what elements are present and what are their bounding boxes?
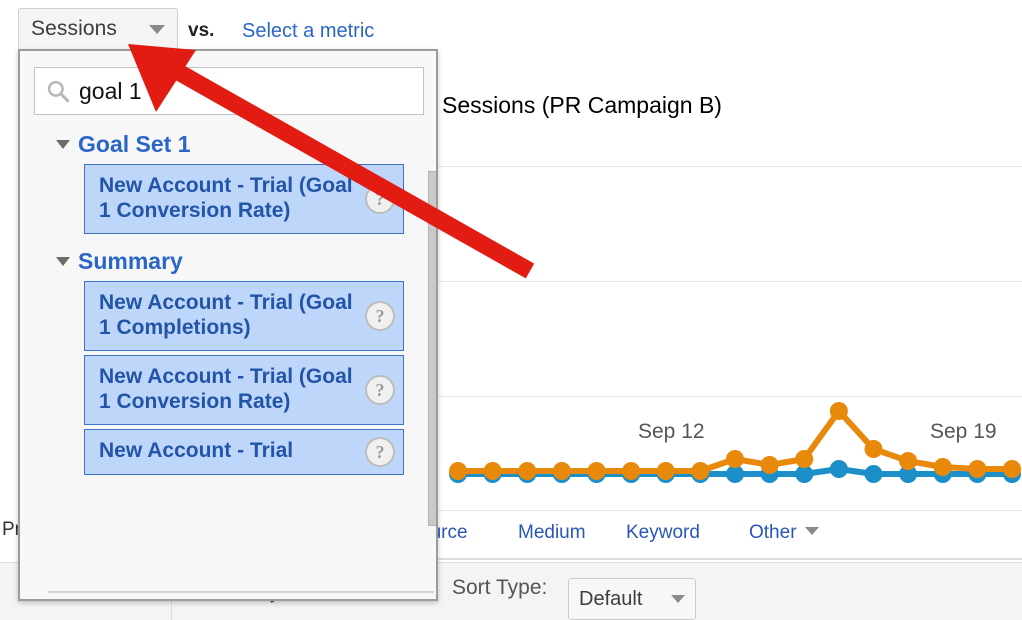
help-circle-icon[interactable]: ? — [365, 437, 395, 467]
dimension-link-keyword[interactable]: Keyword — [626, 522, 700, 544]
triangle-down-icon — [56, 257, 70, 266]
metric-list[interactable]: Goal Set 1 New Account - Trial (Goal 1 C… — [34, 125, 426, 569]
chart-panel: Sessions (PR Campaign B) Sep 12 Sep 19 — [430, 58, 1022, 510]
chart-series-svg — [430, 166, 1022, 510]
dimension-row-underline — [430, 558, 1022, 560]
metric-list-item[interactable]: New Account - Trial (Goal 1 Completions)… — [84, 281, 404, 351]
chart-point — [553, 462, 571, 480]
search-icon — [45, 78, 71, 104]
metric-list-item[interactable]: New Account - Trial (Goal 1 Conversion R… — [84, 164, 404, 234]
chart-point — [588, 462, 606, 480]
sort-type-label: Sort Type: — [452, 576, 547, 600]
sort-type-select[interactable]: Default — [568, 578, 696, 620]
chart-plot-area — [430, 166, 1022, 510]
metric-item-label: New Account - Trial (Goal 1 Conversion R… — [99, 174, 353, 222]
x-tick-label: Sep 19 — [930, 420, 997, 444]
help-circle-icon[interactable]: ? — [365, 301, 395, 331]
chevron-down-icon — [149, 25, 165, 34]
gridline — [430, 396, 1022, 397]
sort-type-value: Default — [579, 588, 665, 611]
metric-item-label: New Account - Trial (Goal 1 Conversion R… — [99, 365, 353, 413]
popup-divider — [48, 591, 434, 593]
dimension-link-other[interactable]: Other — [749, 522, 819, 544]
chart-point — [865, 440, 883, 458]
chart-point — [484, 462, 502, 480]
metric-item-label: New Account - Trial — [99, 439, 293, 462]
metric-search-value: goal 1 — [79, 78, 142, 105]
chart-point — [795, 450, 813, 468]
chart-point — [622, 462, 640, 480]
metric-picker-popup: goal 1 Goal Set 1 New Account - Trial (G… — [18, 49, 438, 601]
chart-point — [830, 402, 848, 420]
metric-list-scrollbar[interactable] — [428, 171, 438, 526]
help-circle-icon[interactable]: ? — [365, 375, 395, 405]
screen-root: Sessions (PR Campaign B) Sep 12 Sep 19 o… — [0, 0, 1022, 620]
triangle-down-icon — [56, 140, 70, 149]
metric-group-label: Summary — [78, 248, 183, 275]
primary-metric-label: Sessions — [31, 17, 143, 41]
chart-point — [899, 452, 917, 470]
chevron-down-icon — [805, 527, 819, 535]
metric-item-label: New Account - Trial (Goal 1 Completions) — [99, 291, 353, 339]
vs-label: vs. — [188, 20, 214, 42]
dimension-link-medium[interactable]: Medium — [518, 522, 586, 544]
chart-title: Sessions (PR Campaign B) — [442, 92, 722, 119]
gridline — [430, 510, 1022, 511]
chart-point — [518, 462, 536, 480]
chart-point — [449, 462, 467, 480]
x-tick-label: Sep 12 — [638, 420, 705, 444]
metric-list-item[interactable]: New Account - Trial (Goal 1 Conversion R… — [84, 355, 404, 425]
select-a-metric-link[interactable]: Select a metric — [242, 20, 374, 43]
metric-group-label: Goal Set 1 — [78, 131, 190, 158]
chart-point — [691, 462, 709, 480]
primary-metric-button[interactable]: Sessions — [18, 8, 178, 50]
metric-search-box[interactable]: goal 1 — [34, 67, 424, 115]
gridline — [430, 166, 1022, 167]
metric-group-header-goal-set-1[interactable]: Goal Set 1 — [56, 131, 426, 158]
metric-group-header-summary[interactable]: Summary — [56, 248, 426, 275]
chevron-down-icon — [671, 595, 685, 603]
chart-point — [830, 460, 848, 478]
chart-point — [761, 456, 779, 474]
metric-list-item[interactable]: New Account - Trial ? — [84, 429, 404, 475]
chart-point — [968, 460, 986, 478]
chart-point — [865, 465, 883, 483]
dimension-link-other-label: Other — [749, 522, 797, 543]
help-circle-icon[interactable]: ? — [365, 184, 395, 214]
chart-point — [934, 458, 952, 476]
gridline — [430, 281, 1022, 282]
chart-point — [657, 462, 675, 480]
chart-point — [1003, 460, 1021, 478]
chart-point — [726, 450, 744, 468]
